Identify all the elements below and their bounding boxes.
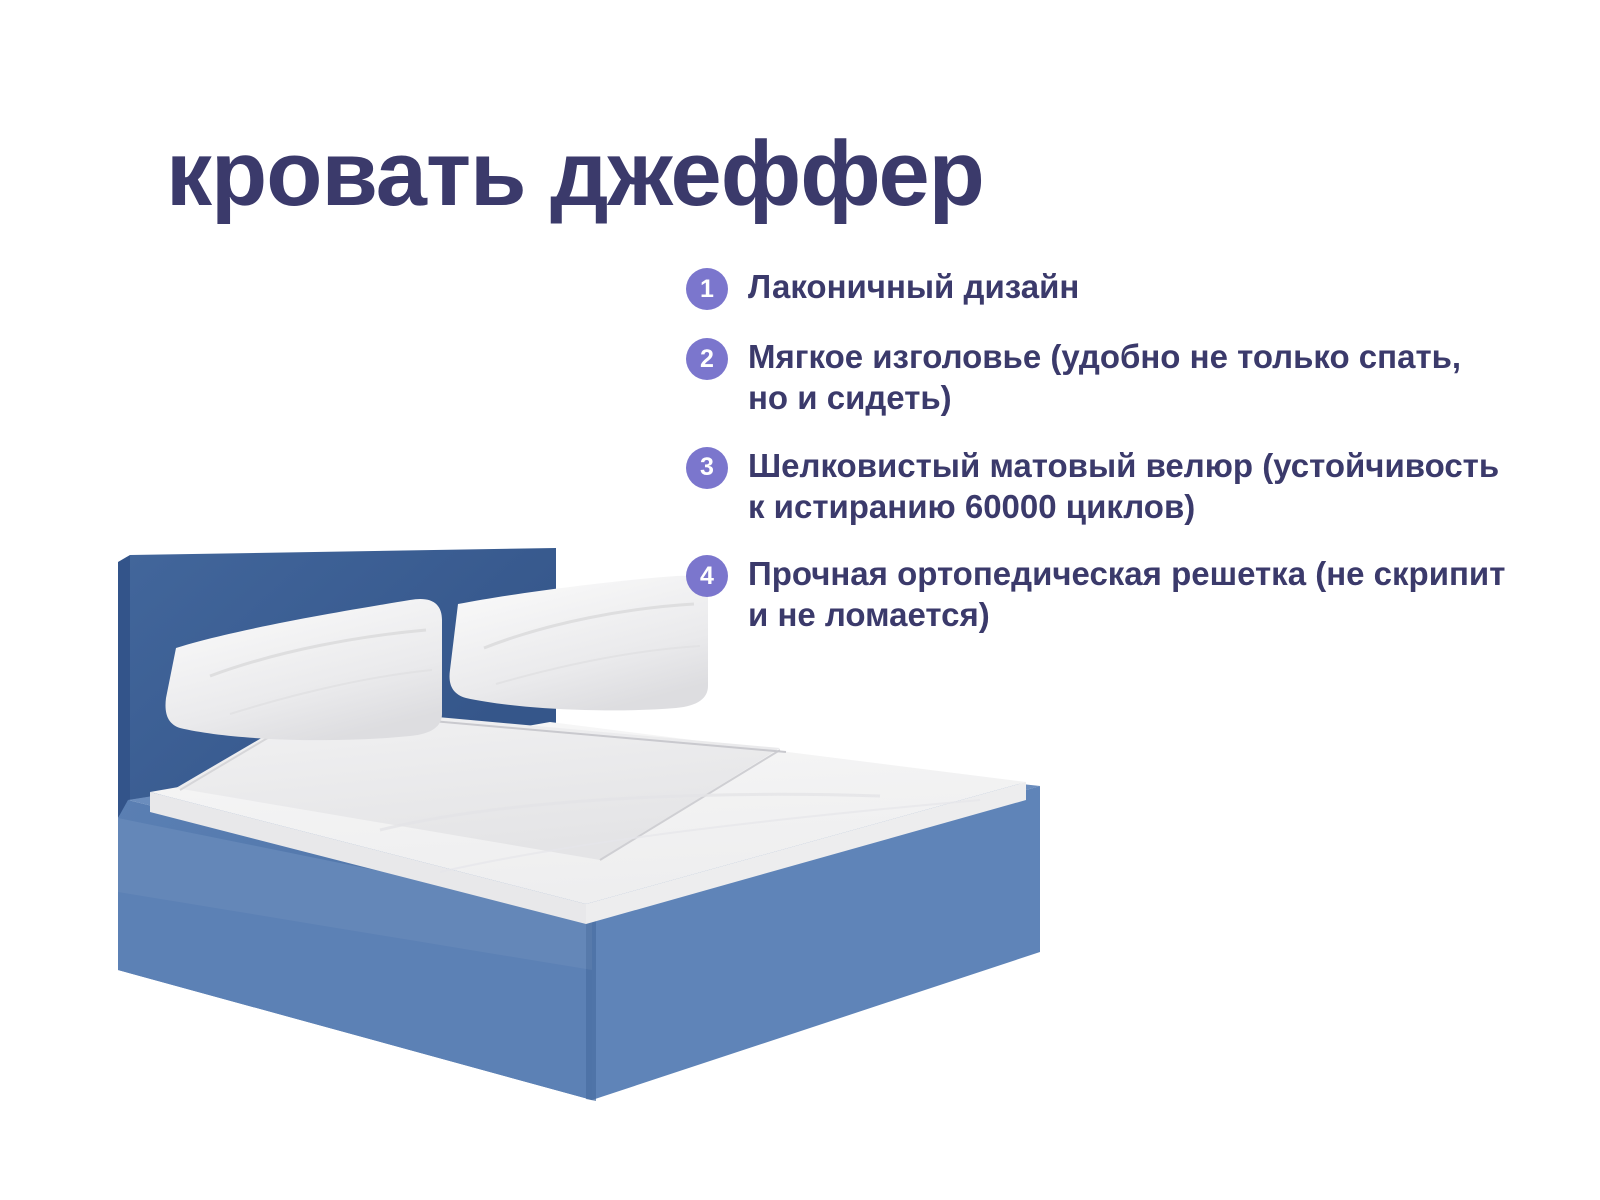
list-item: 2 Мягкое изголовье (удобно не только спа… xyxy=(686,336,1506,419)
feature-text: Прочная ортопедическая решетка (не скрип… xyxy=(748,553,1506,636)
feature-text: Шелковистый матовый велюр (устойчивость … xyxy=(748,445,1506,528)
feature-number-badge: 4 xyxy=(686,555,728,597)
feature-list: 1 Лаконичный дизайн 2 Мягкое изголовье (… xyxy=(686,266,1506,662)
feature-number-badge: 1 xyxy=(686,268,728,310)
page-title: кровать джеффер xyxy=(166,128,984,220)
feature-number-badge: 3 xyxy=(686,447,728,489)
list-item: 4 Прочная ортопедическая решетка (не скр… xyxy=(686,553,1506,636)
feature-number-badge: 2 xyxy=(686,338,728,380)
infographic-canvas: кровать джеффер xyxy=(0,0,1600,1200)
feature-text: Мягкое изголовье (удобно не только спать… xyxy=(748,336,1506,419)
list-item: 1 Лаконичный дизайн xyxy=(686,266,1506,310)
list-item: 3 Шелковистый матовый велюр (устойчивост… xyxy=(686,445,1506,528)
feature-text: Лаконичный дизайн xyxy=(748,266,1079,307)
headboard-side-panel xyxy=(118,555,130,818)
